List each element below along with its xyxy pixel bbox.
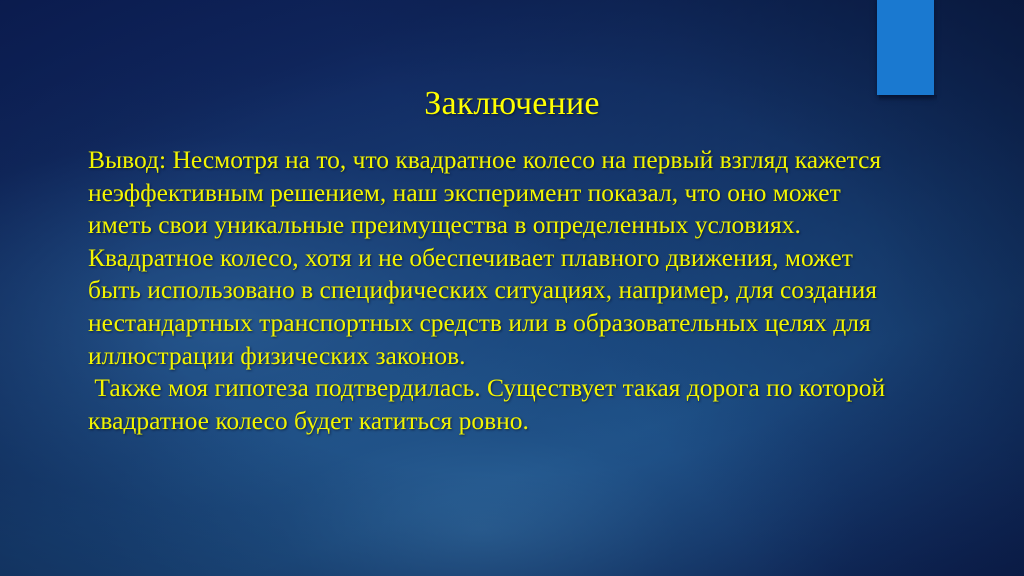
- body-paragraph-2: Также моя гипотеза подтвердилась. Сущест…: [88, 372, 888, 437]
- presentation-slide: Заключение Вывод: Несмотря на то, что кв…: [0, 0, 1024, 576]
- slide-body: Вывод: Несмотря на то, что квадратное ко…: [88, 144, 888, 437]
- slide-title: Заключение: [112, 84, 912, 124]
- body-paragraph-1: Вывод: Несмотря на то, что квадратное ко…: [88, 144, 888, 372]
- blue-rectangle-decoration: [877, 0, 934, 95]
